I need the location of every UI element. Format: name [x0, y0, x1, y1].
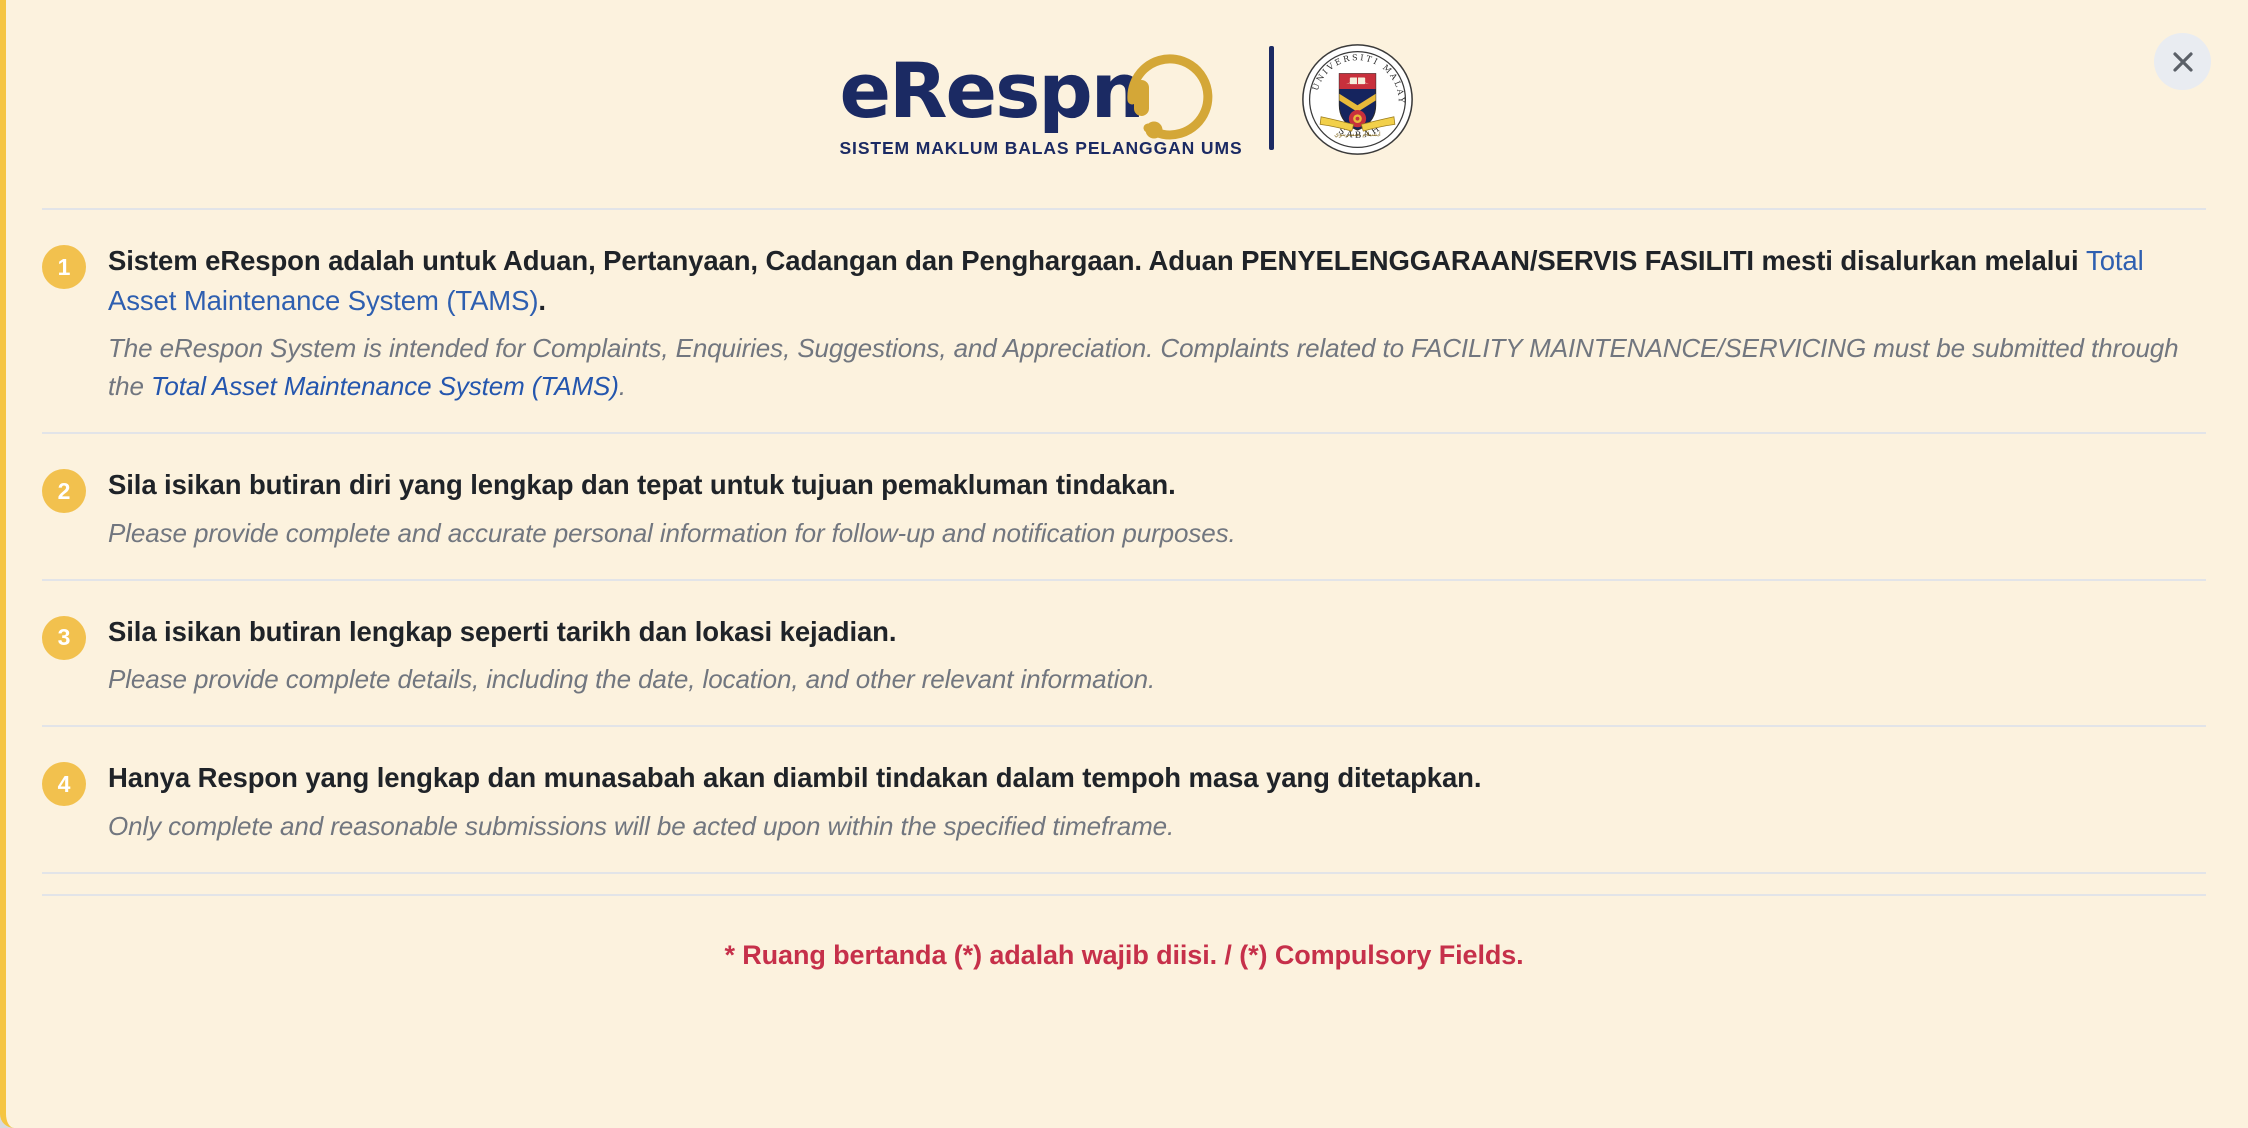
rule-item-4: 4 Hanya Respon yang lengkap dan munasaba…	[42, 727, 2206, 872]
rule-en-after-1: .	[619, 371, 626, 401]
rule-item-3: 3 Sila isikan butiran lengkap seperti ta…	[42, 581, 2206, 726]
rule-text-en-1: The eRespon System is intended for Compl…	[108, 330, 2206, 406]
rule-text-my-1: Sistem eRespon adalah untuk Aduan, Perta…	[108, 241, 2206, 320]
rule-text-en-4: Only complete and reasonable submissions…	[108, 808, 2206, 846]
close-button[interactable]	[2154, 33, 2211, 90]
modal-header: eResp n SISTEM MAKLUM BALAS PELANGGAN UM…	[6, 0, 2248, 208]
compulsory-fields-note: * Ruang bertanda (*) adalah wajib diisi.…	[42, 940, 2206, 971]
svg-text:ايسيلام يتيسرينوي: ايسيلام يتيسرينوي	[1334, 130, 1381, 137]
brand-tagline: SISTEM MAKLUM BALAS PELANGGAN UMS	[839, 138, 1242, 159]
rule-text-my-3: Sila isikan butiran lengkap seperti tari…	[108, 612, 2206, 652]
rule-text-en-3: Please provide complete details, includi…	[108, 661, 2206, 699]
close-icon	[2170, 49, 2196, 75]
rule-text-my-2: Sila isikan butiran diri yang lengkap da…	[108, 465, 2206, 505]
rules-list: 1 Sistem eRespon adalah untuk Aduan, Per…	[6, 208, 2248, 971]
rule-my-after-1: .	[538, 285, 546, 316]
rule-badge-1: 1	[42, 245, 86, 289]
rule-badge-2: 2	[42, 469, 86, 513]
erespon-logo: eResp n SISTEM MAKLUM BALAS PELANGGAN UM…	[839, 53, 1242, 159]
rule-text-en-2: Please provide complete and accurate per…	[108, 515, 2206, 553]
wordmark-text-left: eResp	[839, 53, 1090, 129]
instructions-modal: eResp n SISTEM MAKLUM BALAS PELANGGAN UM…	[0, 0, 2248, 1128]
rule-text-my-4: Hanya Respon yang lengkap dan munasabah …	[108, 758, 2206, 798]
rule-badge-3: 3	[42, 616, 86, 660]
ums-crest-logo: UNIVERSITI MALAYSIA SABAH	[1300, 42, 1415, 157]
rule-item-2: 2 Sila isikan butiran diri yang lengkap …	[42, 434, 2206, 579]
wordmark-text-right: n	[1091, 53, 1143, 129]
rule-item-1: 1 Sistem eRespon adalah untuk Aduan, Per…	[42, 210, 2206, 432]
logo-divider	[1269, 46, 1274, 150]
brand-lockup: eResp n SISTEM MAKLUM BALAS PELANGGAN UM…	[839, 42, 1414, 171]
rule-badge-4: 4	[42, 762, 86, 806]
rule-my-before-1: Sistem eRespon adalah untuk Aduan, Perta…	[108, 245, 2086, 276]
modal-footer: * Ruang bertanda (*) adalah wajib diisi.…	[42, 896, 2206, 971]
tams-link-en-1[interactable]: Total Asset Maintenance System (TAMS)	[151, 371, 619, 401]
